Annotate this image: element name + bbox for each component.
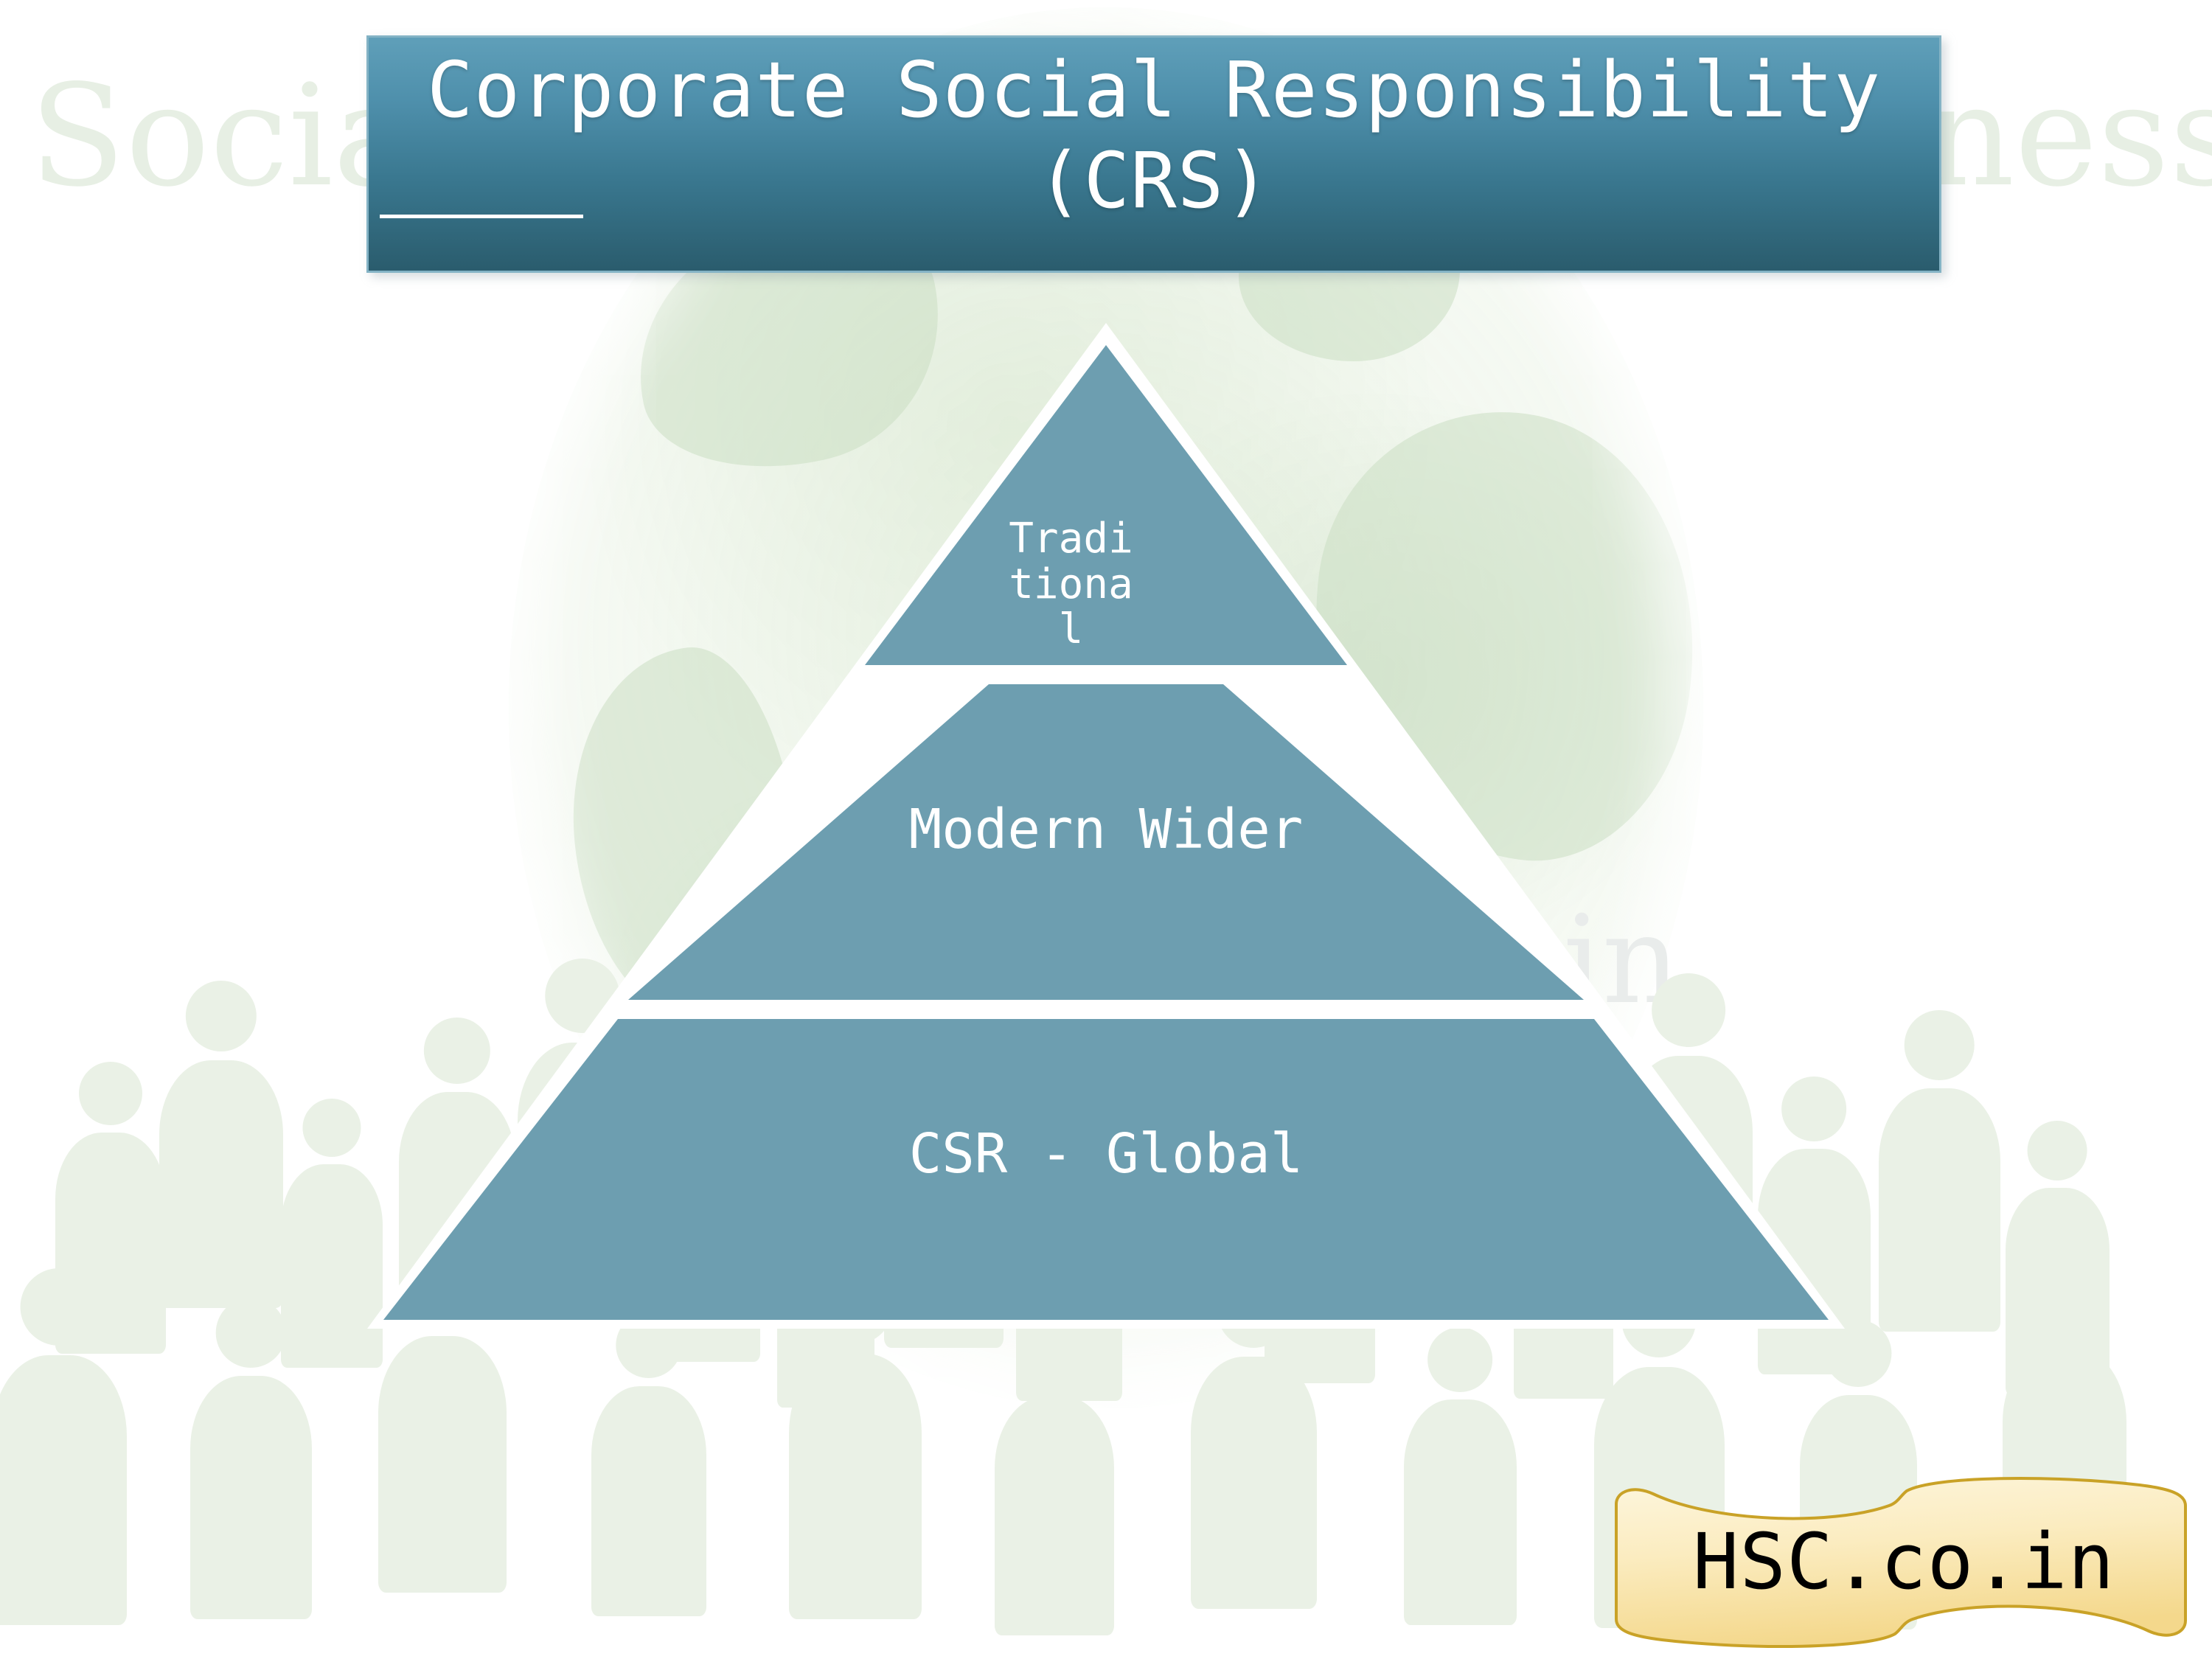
slide-canvas: Socia ness in Corporate Social Responsib… — [0, 0, 2212, 1659]
pyramid-tier-3[interactable] — [383, 1019, 1829, 1320]
pyramid-diagram — [0, 0, 2212, 1659]
hsc-badge-label: HSC.co.in — [1609, 1469, 2191, 1655]
hsc-badge[interactable]: HSC.co.in — [1609, 1469, 2191, 1655]
pyramid-tier-1[interactable] — [865, 345, 1347, 665]
